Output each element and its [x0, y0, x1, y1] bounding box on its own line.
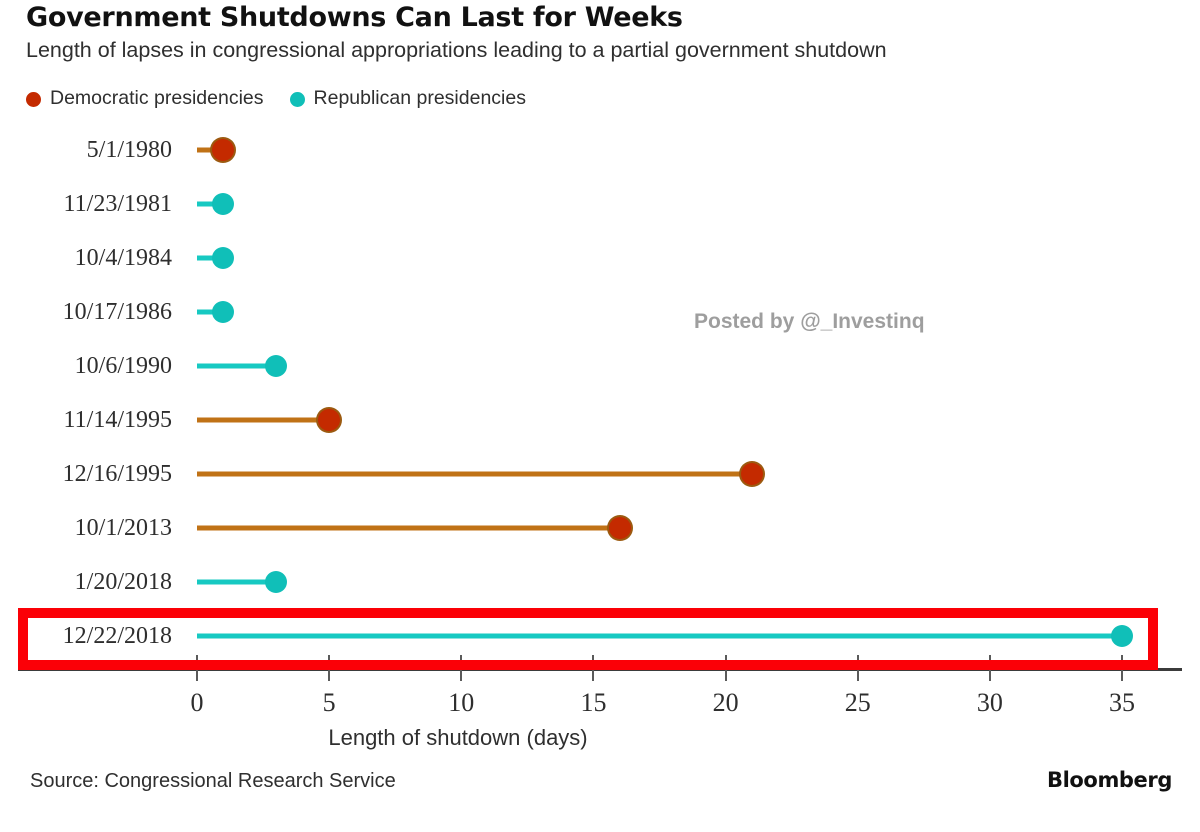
plot-area: 5/1/198011/23/198110/4/198410/17/198610/… — [0, 122, 1200, 670]
source-note: Source: Congressional Research Service — [30, 770, 396, 793]
x-axis-tick — [592, 655, 594, 681]
y-axis-tick-label: 10/4/1984 — [0, 246, 172, 270]
x-axis-title-text: Length of shutdown (days) — [328, 725, 587, 750]
legend-item-label: Democratic presidencies — [50, 89, 264, 109]
lollipop-marker[interactable] — [212, 193, 234, 215]
lollipop-marker[interactable] — [265, 355, 287, 377]
x-axis-tick — [196, 655, 198, 681]
y-axis-tick-label: 1/20/2018 — [0, 570, 172, 594]
lollipop-marker[interactable] — [212, 247, 234, 269]
lollipop-marker[interactable] — [212, 139, 234, 161]
chart-title: Government Shutdowns Can Last for Weeks — [26, 2, 683, 33]
chart-row[interactable]: 10/1/2013 — [0, 510, 1200, 546]
y-axis-tick-label: 11/23/1981 — [0, 192, 172, 216]
legend-item[interactable]: Democratic presidencies — [26, 89, 264, 109]
y-axis-tick-label: 10/6/1990 — [0, 354, 172, 378]
legend-item-label: Republican presidencies — [314, 89, 526, 109]
watermark: Posted by @_Investinq — [694, 310, 925, 334]
lollipop-stem — [197, 634, 1122, 639]
lollipop-stem — [197, 526, 620, 531]
x-axis-tick — [725, 655, 727, 681]
chart-subtitle: Length of lapses in congressional approp… — [26, 38, 887, 63]
y-axis-tick-label: 12/22/2018 — [0, 624, 172, 648]
x-axis-title: Length of shutdown (days) — [0, 725, 1200, 751]
y-axis-tick-label: 12/16/1995 — [0, 462, 172, 486]
y-axis-tick-label: 11/14/1995 — [0, 408, 172, 432]
chart-figure: Government Shutdowns Can Last for Weeks … — [0, 0, 1200, 832]
lollipop-stem — [197, 472, 752, 477]
x-axis-tick-label: 20 — [713, 688, 739, 718]
chart-row[interactable]: 1/20/2018 — [0, 564, 1200, 600]
brand-logo: Bloomberg — [1047, 768, 1172, 792]
legend-swatch-icon — [26, 92, 41, 107]
lollipop-marker[interactable] — [609, 517, 631, 539]
chart-row[interactable]: 10/6/1990 — [0, 348, 1200, 384]
x-axis-tick — [460, 655, 462, 681]
x-axis-tick-label: 35 — [1109, 688, 1135, 718]
x-axis-tick-label: 25 — [845, 688, 871, 718]
legend-item[interactable]: Republican presidencies — [290, 89, 526, 109]
x-axis-line — [18, 668, 1182, 671]
lollipop-marker[interactable] — [265, 571, 287, 593]
chart-row[interactable]: 12/16/1995 — [0, 456, 1200, 492]
x-axis-tick — [1121, 655, 1123, 681]
x-axis-tick-label: 5 — [323, 688, 336, 718]
lollipop-marker[interactable] — [318, 409, 340, 431]
lollipop-marker[interactable] — [212, 301, 234, 323]
chart-row[interactable]: 12/22/2018 — [0, 618, 1200, 654]
y-axis-tick-label: 10/1/2013 — [0, 516, 172, 540]
chart-row[interactable]: 11/23/1981 — [0, 186, 1200, 222]
y-axis-tick-label: 5/1/1980 — [0, 138, 172, 162]
legend-swatch-icon — [290, 92, 305, 107]
chart-row[interactable]: 11/14/1995 — [0, 402, 1200, 438]
chart-row[interactable]: 10/17/1986 — [0, 294, 1200, 330]
lollipop-stem — [197, 418, 329, 423]
x-axis-tick-label: 30 — [977, 688, 1003, 718]
x-axis-tick-label: 0 — [191, 688, 204, 718]
lollipop-marker[interactable] — [1111, 625, 1133, 647]
x-axis-tick-label: 15 — [580, 688, 606, 718]
chart-row[interactable]: 10/4/1984 — [0, 240, 1200, 276]
x-axis-tick-label: 10 — [448, 688, 474, 718]
x-axis-tick — [989, 655, 991, 681]
x-axis-tick — [328, 655, 330, 681]
y-axis-tick-label: 10/17/1986 — [0, 300, 172, 324]
chart-row[interactable]: 5/1/1980 — [0, 132, 1200, 168]
lollipop-marker[interactable] — [741, 463, 763, 485]
chart-legend: Democratic presidenciesRepublican presid… — [26, 84, 526, 114]
x-axis-tick — [857, 655, 859, 681]
